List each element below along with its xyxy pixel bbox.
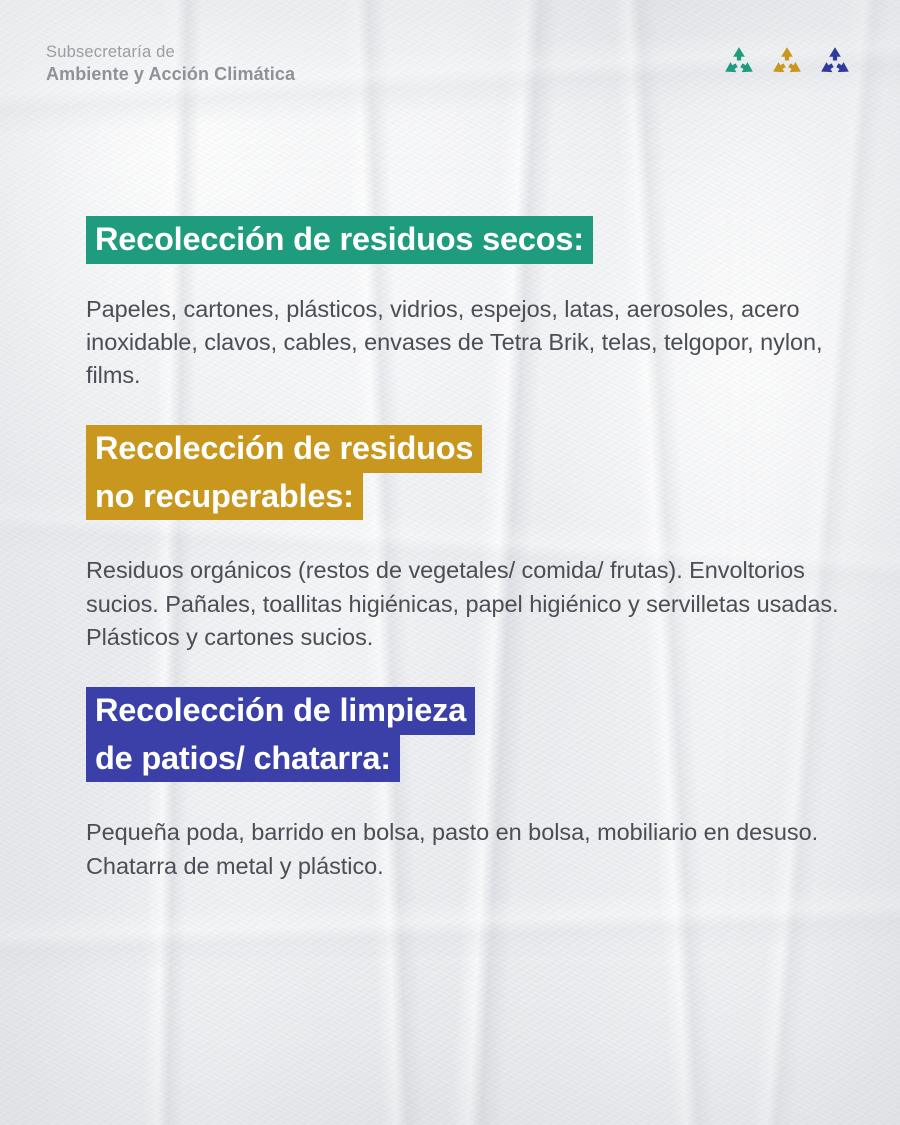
section-body-residuos-secos: Papeles, cartones, plásticos, vidrios, e… bbox=[86, 293, 840, 393]
section-body-residuos-no-recuperables: Residuos orgánicos (restos de vegetales/… bbox=[86, 554, 840, 654]
recycle-icon-amber bbox=[770, 46, 804, 81]
heading-highlight-line: Recolección de limpieza bbox=[86, 687, 475, 735]
poster-header: Subsecretaría de Ambiente y Acción Climá… bbox=[46, 42, 860, 86]
section-heading-residuos-no-recuperables: Recolección de residuos no recuperables: bbox=[86, 425, 840, 520]
heading-highlight-line: de patios/ chatarra: bbox=[86, 735, 400, 783]
organization-subtitle: Subsecretaría de bbox=[46, 42, 295, 63]
heading-highlight-line: Recolección de residuos bbox=[86, 425, 482, 473]
section-heading-residuos-secos: Recolección de residuos secos: bbox=[86, 216, 840, 264]
organization-brand: Subsecretaría de Ambiente y Acción Climá… bbox=[46, 42, 295, 86]
section-residuos-secos: Recolección de residuos secos: Papeles, … bbox=[86, 216, 840, 393]
heading-highlight-line: Recolección de residuos secos: bbox=[86, 216, 593, 264]
organization-title: Ambiente y Acción Climática bbox=[46, 63, 295, 86]
heading-highlight-line: no recuperables: bbox=[86, 473, 363, 521]
section-limpieza-patios-chatarra: Recolección de limpieza de patios/ chata… bbox=[86, 687, 840, 883]
section-body-limpieza-patios-chatarra: Pequeña poda, barrido en bolsa, pasto en… bbox=[86, 816, 840, 883]
section-residuos-no-recuperables: Recolección de residuos no recuperables:… bbox=[86, 425, 840, 655]
recycle-icon-group bbox=[722, 46, 852, 81]
recycle-icon-blue bbox=[818, 46, 852, 81]
poster-canvas: Subsecretaría de Ambiente y Acción Climá… bbox=[0, 0, 900, 1125]
recycle-icon-green bbox=[722, 46, 756, 81]
section-heading-limpieza-patios-chatarra: Recolección de limpieza de patios/ chata… bbox=[86, 687, 840, 782]
